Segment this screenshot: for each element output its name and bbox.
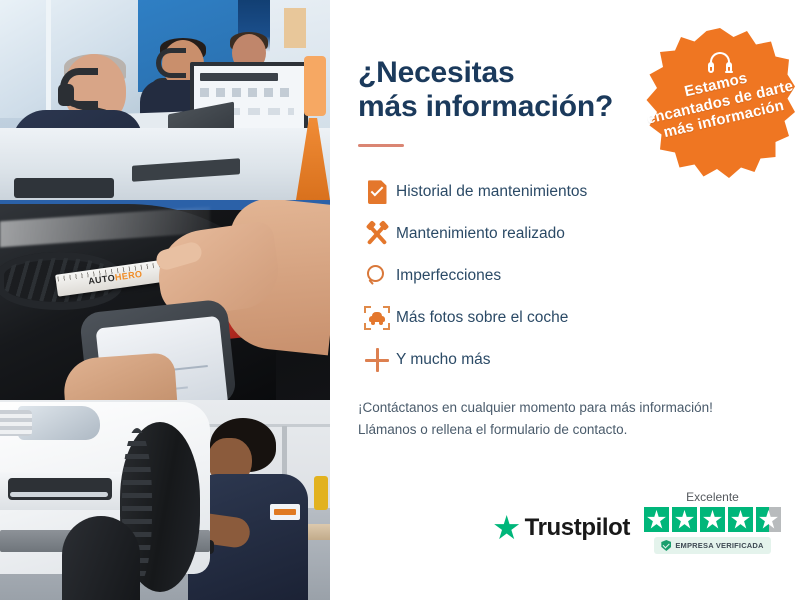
shield-check-icon xyxy=(661,540,671,551)
desk-tablet xyxy=(14,178,114,198)
star-filled xyxy=(728,507,753,532)
list-item: Mantenimiento realizado xyxy=(358,215,773,253)
list-item: Y mucho más xyxy=(358,341,773,379)
contact-copy: ¡Contáctanos en cualquier momento para m… xyxy=(358,397,773,441)
feature-list: Historial de mantenimientos Mantenimient… xyxy=(358,173,773,379)
feature-label: Más fotos sobre el coche xyxy=(396,309,568,327)
chrome-trim xyxy=(10,492,108,497)
photo-column: AUTOHERO xyxy=(0,0,330,600)
star-filled xyxy=(644,507,669,532)
page-title: ¿Necesitas más información? xyxy=(358,56,658,124)
star-half xyxy=(756,507,781,532)
contact-line-2: Llámanos o rellena el formulario de cont… xyxy=(358,419,773,441)
trustpilot-logo[interactable]: Trustpilot xyxy=(494,514,630,554)
feature-label: Y mucho más xyxy=(396,351,490,369)
title-divider xyxy=(358,144,404,147)
star-rating xyxy=(644,507,781,532)
wall-poster-secondary xyxy=(284,8,306,48)
star-filled xyxy=(700,507,725,532)
crossed-tools-icon xyxy=(358,219,396,249)
list-item: Imperfecciones xyxy=(358,257,773,295)
trustpilot-rating[interactable]: Trustpilot Excelente EMPRESA VERIFICADA xyxy=(494,490,781,554)
magnifier-icon xyxy=(358,261,396,291)
yellow-tool xyxy=(314,476,328,510)
star-filled xyxy=(672,507,697,532)
plus-icon xyxy=(358,345,396,375)
call-center-agents-photo xyxy=(0,0,330,200)
status-badge: EMPRESA VERIFICADA xyxy=(654,537,770,554)
document-check-icon xyxy=(358,177,396,207)
rear-wheel xyxy=(62,516,140,600)
feature-label: Mantenimiento realizado xyxy=(396,225,565,243)
headline-line-2: más información? xyxy=(358,90,613,123)
feature-label: Historial de mantenimientos xyxy=(396,183,587,201)
feature-label: Imperfecciones xyxy=(396,267,501,285)
verified-label: EMPRESA VERIFICADA xyxy=(675,541,763,550)
tablet-inspection-photo: AUTOHERO xyxy=(0,200,330,400)
support-starburst-badge: Estamos encantados de darte más informac… xyxy=(645,28,795,178)
uniform-logo-patch xyxy=(270,504,300,520)
shelf-box xyxy=(304,56,326,116)
trustpilot-star-icon xyxy=(494,515,520,541)
tyre-inspection-photo xyxy=(0,400,330,600)
trustpilot-wordmark: Trustpilot xyxy=(525,514,630,542)
car-photo-frame-icon xyxy=(358,303,396,333)
headline-line-1: ¿Necesitas xyxy=(358,56,514,89)
trustpilot-score-block: Excelente EMPRESA VERIFICADA xyxy=(644,490,781,554)
rating-label: Excelente xyxy=(686,490,739,504)
content-column: ¿Necesitas más información? Estamos enca… xyxy=(330,0,799,600)
front-grille xyxy=(0,410,32,436)
contact-line-1: ¡Contáctanos en cualquier momento para m… xyxy=(358,397,773,419)
list-item: Más fotos sobre el coche xyxy=(358,299,773,337)
list-item: Historial de mantenimientos xyxy=(358,173,773,211)
info-promo-banner: AUTOHERO xyxy=(0,0,799,600)
